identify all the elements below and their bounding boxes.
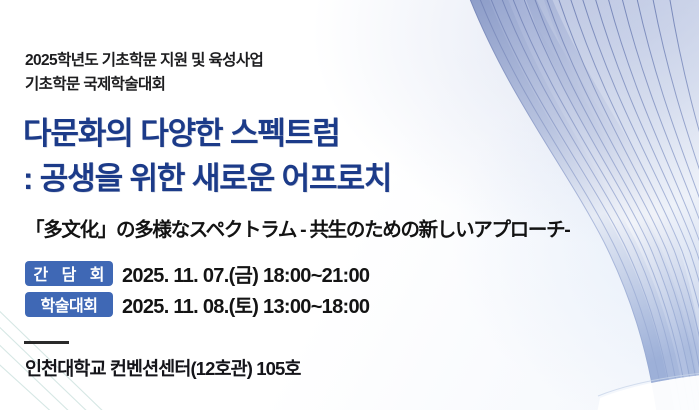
japanese-subtitle: 「多文化」の多様なスペクトラム - 共生のための新しいアプローチ- <box>25 213 569 242</box>
poster-banner: 2025학년도 기초학문 지원 및 육성사업 기초학문 국제학술대회 다문화의 … <box>0 0 699 410</box>
schedule-row-2: 학술대회 2025. 11. 08.(토) 13:00~18:00 <box>25 290 369 319</box>
venue-divider-rule <box>24 341 69 344</box>
poster-content: 2025학년도 기초학문 지원 및 육성사업 기초학문 국제학술대회 다문화의 … <box>0 0 699 410</box>
schedule-row-1: 간 담 회 2025. 11. 07.(금) 18:00~21:00 <box>25 259 369 288</box>
schedule-badge-1: 간 담 회 <box>25 261 113 286</box>
schedule-badge-2: 학술대회 <box>25 292 113 317</box>
headline-line-1: 다문화의 다양한 스펙트럼 <box>23 108 340 153</box>
schedule-datetime-1: 2025. 11. 07.(금) 18:00~21:00 <box>122 259 369 288</box>
venue-text: 인천대학교 컨벤션센터(12호관) 105호 <box>25 355 301 381</box>
schedule-datetime-2: 2025. 11. 08.(토) 13:00~18:00 <box>122 290 369 319</box>
program-line-1: 2025학년도 기초학문 지원 및 육성사업 <box>25 48 263 70</box>
headline-line-2: : 공생을 위한 새로운 어프로치 <box>23 153 391 198</box>
program-line-2: 기초학문 국제학술대회 <box>25 72 165 94</box>
